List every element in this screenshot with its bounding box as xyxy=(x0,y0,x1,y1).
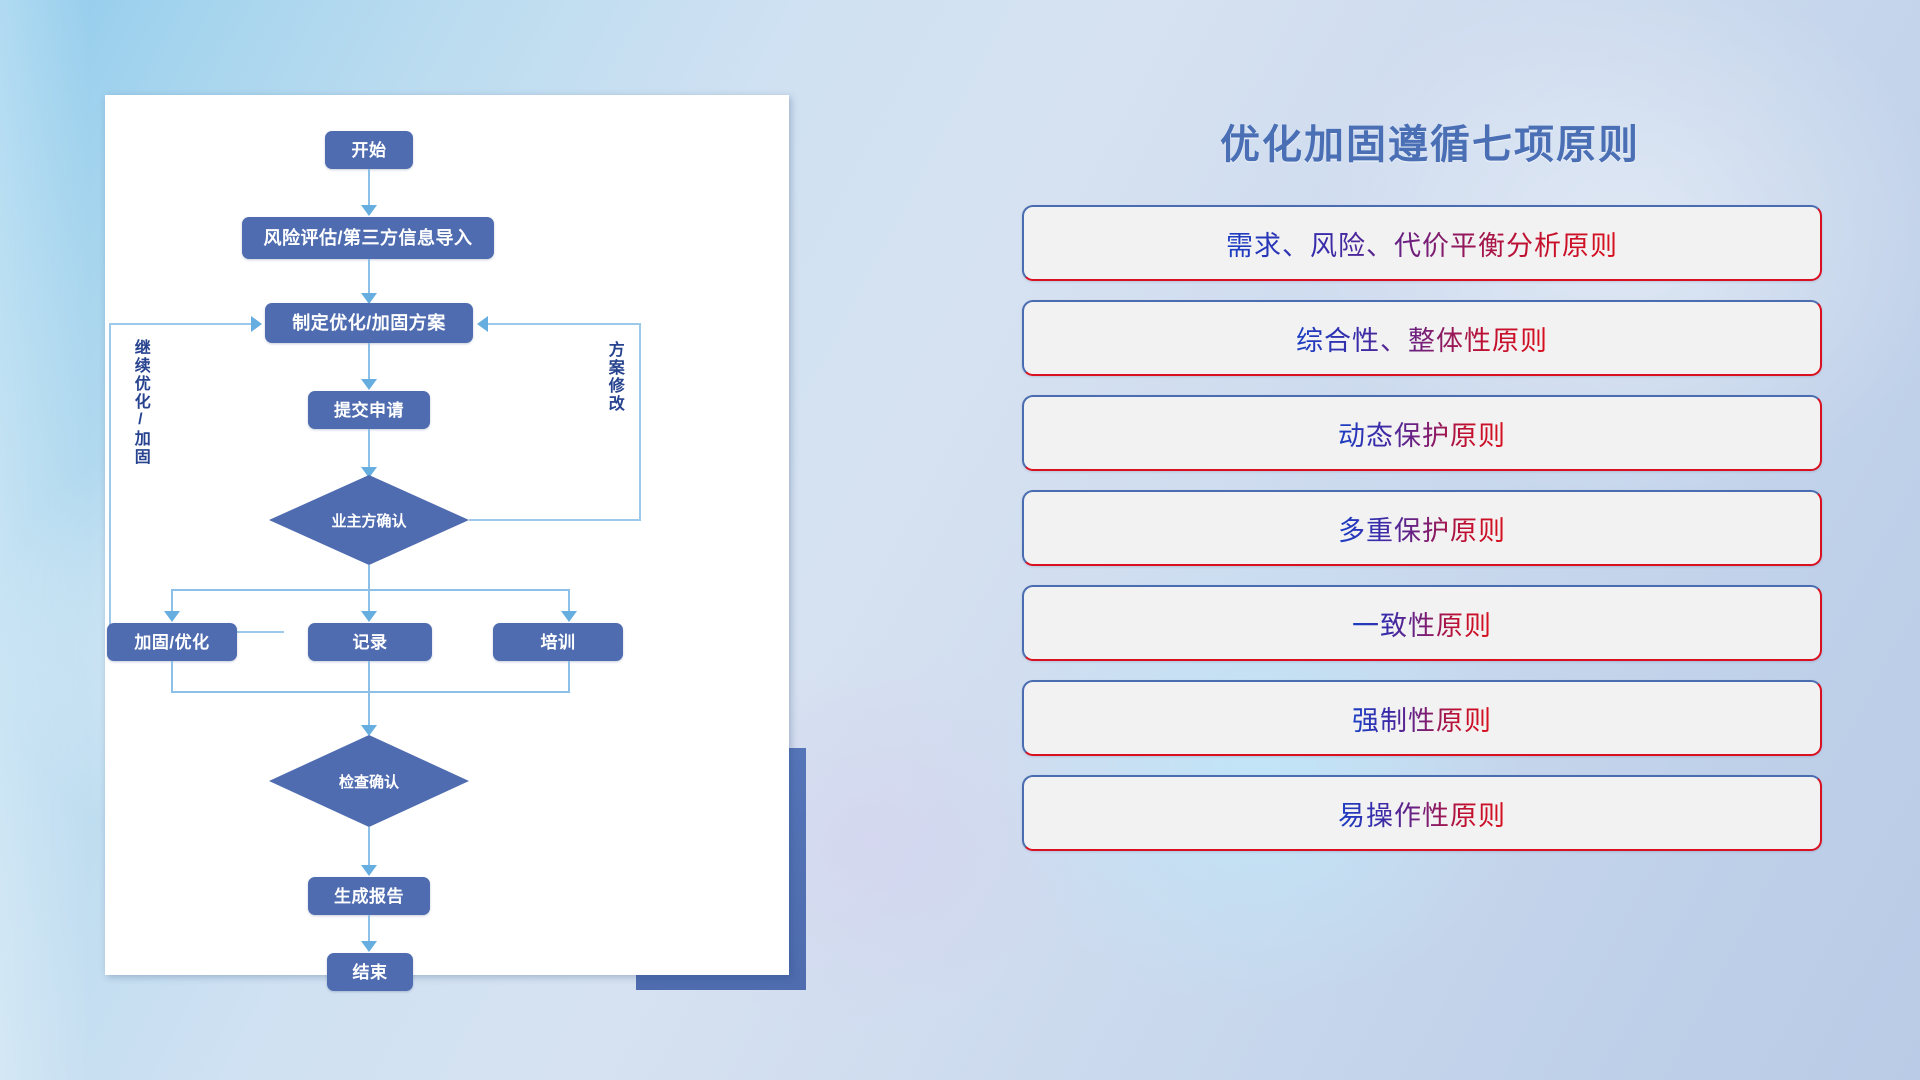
principle-item-5[interactable]: 一致性原则 xyxy=(1022,585,1822,661)
principle-item-1-label: 需求、风险、代价平衡分析原则 xyxy=(1226,224,1618,263)
flow-node-submit-application-label: 提交申请 xyxy=(334,402,404,419)
background-left-band xyxy=(0,0,90,1080)
connector-owner-down xyxy=(368,565,370,591)
principle-item-3[interactable]: 动态保护原则 xyxy=(1022,395,1822,471)
connector-record-down xyxy=(368,661,370,693)
flow-node-start-label: 开始 xyxy=(352,142,387,159)
arrowhead-plan-to-submit xyxy=(361,379,377,390)
flow-edge-label-continue-optimize: 继续优化/加固 xyxy=(131,339,148,466)
principle-item-2[interactable]: 综合性、整体性原则 xyxy=(1022,300,1822,376)
principle-item-6-label: 强制性原则 xyxy=(1352,699,1492,738)
connector-check-left-up xyxy=(109,323,111,633)
connector-owner-right-up xyxy=(639,323,641,521)
principle-item-6[interactable]: 强制性原则 xyxy=(1022,680,1822,756)
flow-edge-label-plan-revision: 方案修改 xyxy=(605,341,622,413)
principle-item-7[interactable]: 易操作性原则 xyxy=(1022,775,1822,851)
connector-owner-right-into-plan xyxy=(488,323,641,325)
principles-title: 优化加固遵循七项原则 xyxy=(1020,112,1840,170)
flow-node-reinforce-optimize-label: 加固/优化 xyxy=(134,634,209,651)
flow-node-record-label: 记录 xyxy=(353,634,388,651)
arrowhead-check-to-report xyxy=(361,865,377,876)
flow-node-submit-application[interactable]: 提交申请 xyxy=(308,391,430,429)
arrowhead-start-to-risk xyxy=(361,205,377,216)
principle-item-4[interactable]: 多重保护原则 xyxy=(1022,490,1822,566)
principles-panel: 优化加固遵循七项原则 需求、风险、代价平衡分析原则 综合性、整体性原则 动态保护… xyxy=(1020,70,1840,1020)
flowchart-card: 开始 风险评估/第三方信息导入 制定优化/加固方案 提交申请 xyxy=(105,95,789,975)
flow-node-start[interactable]: 开始 xyxy=(325,131,413,169)
flow-node-risk-assessment-label: 风险评估/第三方信息导入 xyxy=(264,229,473,247)
flow-node-end-label: 结束 xyxy=(353,964,388,981)
slide-root: 开始 风险评估/第三方信息导入 制定优化/加固方案 提交申请 xyxy=(0,0,1920,1080)
flow-node-generate-report[interactable]: 生成报告 xyxy=(308,877,430,915)
arrowhead-to-reinforce xyxy=(164,611,180,622)
arrowhead-report-to-end xyxy=(361,941,377,952)
connector-reinforce-down xyxy=(171,661,173,693)
principle-item-5-label: 一致性原则 xyxy=(1352,604,1492,643)
flow-node-record[interactable]: 记录 xyxy=(308,623,432,661)
flowchart-stage: 开始 风险评估/第三方信息导入 制定优化/加固方案 提交申请 xyxy=(105,95,789,975)
flow-node-make-plan[interactable]: 制定优化/加固方案 xyxy=(265,303,473,343)
flow-node-training-label: 培训 xyxy=(541,634,576,651)
connector-fanin-bus xyxy=(171,691,570,693)
arrowhead-to-train xyxy=(561,611,577,622)
connector-train-down xyxy=(568,661,570,693)
arrowhead-plan-from-right xyxy=(477,316,488,332)
principle-item-1[interactable]: 需求、风险、代价平衡分析原则 xyxy=(1022,205,1822,281)
arrowhead-to-record xyxy=(361,611,377,622)
principle-item-3-label: 动态保护原则 xyxy=(1338,414,1506,453)
flow-decision-owner-confirm[interactable]: 业主方确认 xyxy=(269,475,469,565)
principle-item-7-label: 易操作性原则 xyxy=(1338,794,1506,833)
flow-node-reinforce-optimize[interactable]: 加固/优化 xyxy=(107,623,237,661)
flow-node-risk-assessment[interactable]: 风险评估/第三方信息导入 xyxy=(242,217,494,259)
flow-node-end[interactable]: 结束 xyxy=(327,953,413,991)
principles-list: 需求、风险、代价平衡分析原则 综合性、整体性原则 动态保护原则 多重保护原则 一… xyxy=(1022,205,1822,870)
principle-item-2-label: 综合性、整体性原则 xyxy=(1296,319,1548,358)
flow-decision-check-confirm-label: 检查确认 xyxy=(339,771,399,792)
flow-decision-owner-confirm-label: 业主方确认 xyxy=(331,510,406,531)
connector-check-left-into-plan xyxy=(109,323,251,325)
flow-decision-check-confirm[interactable]: 检查确认 xyxy=(269,735,469,827)
flow-node-training[interactable]: 培训 xyxy=(493,623,623,661)
connector-fanout-bus xyxy=(171,589,570,591)
principle-item-4-label: 多重保护原则 xyxy=(1338,509,1506,548)
arrowhead-plan-from-left xyxy=(251,316,262,332)
flow-node-make-plan-label: 制定优化/加固方案 xyxy=(292,314,446,332)
connector-owner-right-out xyxy=(469,519,641,521)
flow-node-generate-report-label: 生成报告 xyxy=(334,888,404,905)
